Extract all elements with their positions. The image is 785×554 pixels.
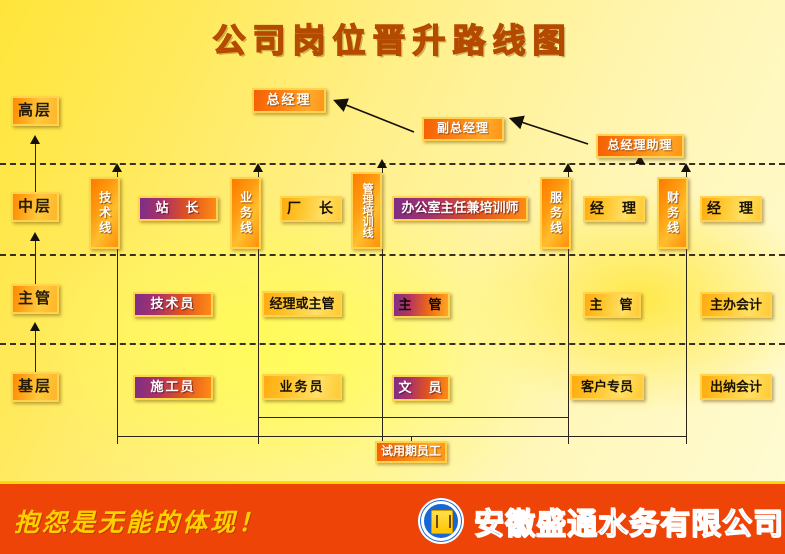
track-arrow-mgmt [377,159,387,168]
track-arrow-finance [681,163,691,172]
node-label-technician: 技术员 [150,297,195,311]
node-label-station-master: 站 长 [155,201,200,215]
track-text-tech: 技术线 [97,191,111,236]
node-chief-accountant[interactable]: 主办会计 [700,292,772,318]
footer-bar: 抱怨是无能的体现！ 安徽盛通水务有限公司 [0,481,785,554]
page-title: 公司岗位晋升路线图 [0,14,785,62]
track-text-finance: 财务线 [665,191,679,236]
track-text-mgmt: 管理培训线 [360,183,373,238]
node-general-manager[interactable]: 总经理 [252,88,326,113]
title-char-3: 位 [333,22,373,59]
node-label-plant-manager: 厂 长 [287,201,335,216]
node-supervisor-mgmt[interactable]: 主 管 [392,292,450,318]
node-office-director[interactable]: 办公室主任兼培训师 [392,196,528,221]
company-logo-icon [418,498,464,544]
title-char-4: 晋 [373,22,413,59]
level-connector-base-supervisor [35,330,36,372]
track-line-biz [258,249,259,444]
title-char-1: 司 [253,22,293,59]
title-char-7: 线 [493,22,533,59]
node-deputy-general-manager[interactable]: 副总经理 [422,117,504,141]
node-label-chief-accountant: 主办会计 [710,298,762,312]
node-gm-assistant[interactable]: 总经理助理 [596,134,684,158]
logo-emblem [431,510,453,534]
level-badge-supervisor: 主管 [11,284,59,314]
node-constructor[interactable]: 施工员 [133,375,213,400]
node-label-constructor: 施工员 [150,380,195,394]
title-char-0: 公 [213,22,253,59]
node-label-cashier: 出纳会计 [710,380,762,394]
node-customer-agent[interactable]: 客户专员 [570,374,644,400]
node-label-deputy-general-manager: 副总经理 [437,122,489,135]
track-line-finance [686,249,687,444]
node-label-customer-agent: 客户专员 [581,380,633,394]
track-label-mgmt[interactable]: 管理培训线 [351,172,382,249]
node-label-service-manager: 经 理 [590,201,638,216]
track-label-biz[interactable]: 业务线 [230,177,261,249]
footer-slogan: 抱怨是无能的体现！ [14,503,266,539]
track-arrow-biz [253,163,263,172]
node-label-supervisor-service: 主 管 [589,298,634,312]
node-label-gm-assistant: 总经理助理 [607,139,672,152]
entry-bus-line-inner [258,417,568,418]
level-label-supervisor: 主管 [18,291,52,308]
node-probation-employee[interactable]: 试用期员工 [375,441,447,463]
node-technician[interactable]: 技术员 [133,292,213,317]
node-label-clerk: 文 员 [398,381,443,395]
footer-brand: 安徽盛通水务有限公司 [418,484,784,554]
node-label-finance-manager: 经 理 [707,201,755,216]
track-line-tech [117,249,118,444]
level-label-base: 基层 [18,379,52,396]
track-label-service[interactable]: 服务线 [540,177,571,249]
node-label-general-manager: 总经理 [266,93,311,107]
track-line-service [568,249,569,444]
level-badge-base: 基层 [11,372,59,402]
level-label-senior: 高层 [18,103,52,120]
node-label-supervisor-mgmt: 主 管 [398,298,443,312]
level-arrow-to-supervisor [30,322,40,331]
node-salesperson[interactable]: 业务员 [262,374,342,400]
node-finance-manager[interactable]: 经 理 [700,196,762,222]
track-label-tech[interactable]: 技术线 [89,177,120,249]
level-badge-senior: 高层 [11,96,59,126]
track-arrow-tech [112,163,122,172]
track-text-biz: 业务线 [238,191,252,236]
title-char-6: 路 [453,22,493,59]
level-label-middle: 中层 [18,199,52,216]
node-manager-or-supervisor[interactable]: 经理或主管 [262,291,342,317]
entry-bus-line [117,436,687,437]
node-station-master[interactable]: 站 长 [138,196,218,221]
node-service-manager[interactable]: 经 理 [583,196,645,222]
title-char-5: 升 [413,22,453,59]
promotion-roadmap-poster: 公司岗位晋升路线图 高层 中层 主管 基层 总经理 副总经理 总经理助理 [0,0,785,554]
node-label-salesperson: 业务员 [279,380,324,394]
node-clerk[interactable]: 文 员 [392,375,450,401]
title-char-8: 图 [533,22,573,59]
title-char-2: 岗 [293,22,333,59]
level-badge-middle: 中层 [11,192,59,222]
company-name: 安徽盛通水务有限公司 [474,499,784,543]
node-label-probation-employee: 试用期员工 [381,445,441,458]
track-line-mgmt [382,249,383,444]
node-cashier[interactable]: 出纳会计 [700,374,772,400]
node-label-office-director: 办公室主任兼培训师 [401,201,518,215]
node-plant-manager[interactable]: 厂 长 [280,196,342,222]
track-label-finance[interactable]: 财务线 [657,177,688,249]
level-connector-supervisor-middle [35,240,36,284]
level-arrow-to-middle [30,232,40,241]
level-arrow-to-senior [30,135,40,144]
track-arrow-service [563,163,573,172]
node-label-manager-or-supervisor: 经理或主管 [269,297,334,311]
track-text-service: 服务线 [548,191,562,236]
node-supervisor-service[interactable]: 主 管 [583,292,641,318]
